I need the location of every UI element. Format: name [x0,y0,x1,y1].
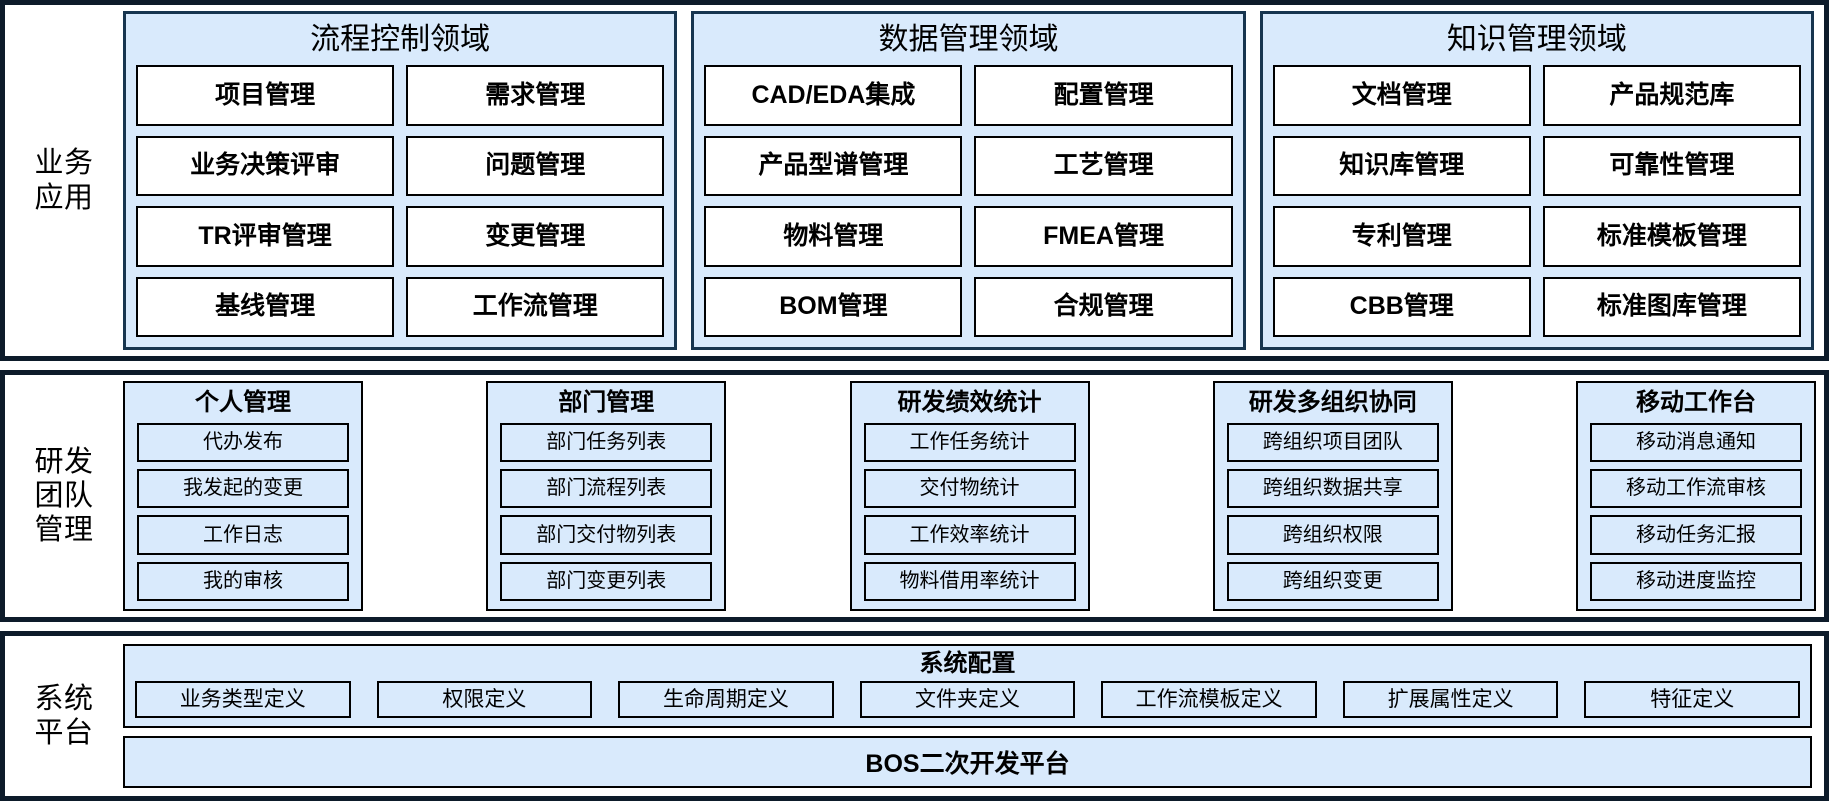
domain-grid-knowledge-management: 文档管理 产品规范库 知识库管理 可靠性管理 专利管理 标准模板管理 CBB管理… [1273,65,1801,337]
team-item[interactable]: 移动进度监控 [1590,562,1802,601]
app-cell[interactable]: TR评审管理 [136,206,394,267]
team-item[interactable]: 移动消息通知 [1590,423,1802,462]
sysconfig-item[interactable]: 业务类型定义 [135,681,351,718]
sysconfig-item[interactable]: 扩展属性定义 [1343,681,1559,718]
app-cell[interactable]: 标准图库管理 [1543,277,1801,338]
app-cell[interactable]: CAD/EDA集成 [704,65,962,126]
sysconfig-item[interactable]: 生命周期定义 [618,681,834,718]
app-cell[interactable]: 合规管理 [974,277,1232,338]
app-cell[interactable]: 文档管理 [1273,65,1531,126]
team-group-items: 移动消息通知 移动工作流审核 移动任务汇报 移动进度监控 [1590,423,1802,601]
team-group-multi-org-collaboration: 研发多组织协同 跨组织项目团队 跨组织数据共享 跨组织权限 跨组织变更 [1213,381,1453,611]
app-cell[interactable]: 产品规范库 [1543,65,1801,126]
team-item[interactable]: 部门变更列表 [500,562,712,601]
sysconfig-item[interactable]: 权限定义 [377,681,593,718]
band-label-rd-team-management: 研发 团队 管理 [5,375,123,617]
team-group-items: 跨组织项目团队 跨组织数据共享 跨组织权限 跨组织变更 [1227,423,1439,601]
app-cell[interactable]: CBB管理 [1273,277,1531,338]
system-configuration-items: 业务类型定义 权限定义 生命周期定义 文件夹定义 工作流模板定义 扩展属性定义 … [135,681,1800,718]
team-item[interactable]: 部门交付物列表 [500,515,712,554]
team-group-items: 部门任务列表 部门流程列表 部门交付物列表 部门变更列表 [500,423,712,601]
team-item[interactable]: 交付物统计 [864,469,1076,508]
team-group-title: 部门管理 [500,387,712,423]
app-cell[interactable]: 配置管理 [974,65,1232,126]
team-item[interactable]: 工作日志 [137,515,349,554]
team-group-rd-performance-statistics: 研发绩效统计 工作任务统计 交付物统计 工作效率统计 物料借用率统计 [850,381,1090,611]
app-cell[interactable]: 问题管理 [406,136,664,197]
domain-title-process-control: 流程控制领域 [136,18,664,65]
team-item[interactable]: 工作任务统计 [864,423,1076,462]
team-item[interactable]: 跨组织项目团队 [1227,423,1439,462]
team-item[interactable]: 跨组织数据共享 [1227,469,1439,508]
system-configuration-panel: 系统配置 业务类型定义 权限定义 生命周期定义 文件夹定义 工作流模板定义 扩展… [123,644,1812,728]
app-cell[interactable]: 基线管理 [136,277,394,338]
team-group-items: 工作任务统计 交付物统计 工作效率统计 物料借用率统计 [864,423,1076,601]
band-body-business-application: 流程控制领域 项目管理 需求管理 业务决策评审 问题管理 TR评审管理 变更管理… [123,5,1824,356]
team-item[interactable]: 部门任务列表 [500,423,712,462]
team-group-mobile-workbench: 移动工作台 移动消息通知 移动工作流审核 移动任务汇报 移动进度监控 [1576,381,1816,611]
app-cell[interactable]: 专利管理 [1273,206,1531,267]
team-item[interactable]: 部门流程列表 [500,469,712,508]
app-cell[interactable]: 需求管理 [406,65,664,126]
team-group-title: 移动工作台 [1590,387,1802,423]
domain-title-knowledge-management: 知识管理领域 [1273,18,1801,65]
app-cell[interactable]: 项目管理 [136,65,394,126]
sysconfig-item[interactable]: 特征定义 [1584,681,1800,718]
domain-grid-process-control: 项目管理 需求管理 业务决策评审 问题管理 TR评审管理 变更管理 基线管理 工… [136,65,664,337]
app-cell[interactable]: 可靠性管理 [1543,136,1801,197]
app-cell[interactable]: 物料管理 [704,206,962,267]
bos-development-platform-bar[interactable]: BOS二次开发平台 [123,736,1812,788]
team-item[interactable]: 我发起的变更 [137,469,349,508]
app-cell[interactable]: FMEA管理 [974,206,1232,267]
team-item[interactable]: 物料借用率统计 [864,562,1076,601]
team-item[interactable]: 移动工作流审核 [1590,469,1802,508]
domain-process-control: 流程控制领域 项目管理 需求管理 业务决策评审 问题管理 TR评审管理 变更管理… [123,11,677,350]
team-group-title: 研发绩效统计 [864,387,1076,423]
sysconfig-item[interactable]: 文件夹定义 [860,681,1076,718]
app-cell[interactable]: BOM管理 [704,277,962,338]
band-label-business-application: 业务 应用 [5,5,123,356]
app-cell[interactable]: 变更管理 [406,206,664,267]
team-item[interactable]: 跨组织变更 [1227,562,1439,601]
domain-data-management: 数据管理领域 CAD/EDA集成 配置管理 产品型谱管理 工艺管理 物料管理 F… [691,11,1245,350]
app-cell[interactable]: 标准模板管理 [1543,206,1801,267]
team-group-department-management: 部门管理 部门任务列表 部门流程列表 部门交付物列表 部门变更列表 [486,381,726,611]
team-group-personal-management: 个人管理 代办发布 我发起的变更 工作日志 我的审核 [123,381,363,611]
domain-knowledge-management: 知识管理领域 文档管理 产品规范库 知识库管理 可靠性管理 专利管理 标准模板管… [1260,11,1814,350]
app-cell[interactable]: 产品型谱管理 [704,136,962,197]
app-cell[interactable]: 工作流管理 [406,277,664,338]
sysconfig-item[interactable]: 工作流模板定义 [1101,681,1317,718]
team-group-title: 研发多组织协同 [1227,387,1439,423]
app-cell[interactable]: 知识库管理 [1273,136,1531,197]
band-body-system-platform: 系统配置 业务类型定义 权限定义 生命周期定义 文件夹定义 工作流模板定义 扩展… [123,636,1824,796]
app-cell[interactable]: 业务决策评审 [136,136,394,197]
system-configuration-title: 系统配置 [135,649,1800,681]
team-item[interactable]: 移动任务汇报 [1590,515,1802,554]
team-item[interactable]: 工作效率统计 [864,515,1076,554]
domain-grid-data-management: CAD/EDA集成 配置管理 产品型谱管理 工艺管理 物料管理 FMEA管理 B… [704,65,1232,337]
team-item[interactable]: 代办发布 [137,423,349,462]
team-item[interactable]: 我的审核 [137,562,349,601]
app-cell[interactable]: 工艺管理 [974,136,1232,197]
band-label-system-platform: 系统 平台 [5,636,123,796]
band-rd-team-management: 研发 团队 管理 个人管理 代办发布 我发起的变更 工作日志 我的审核 部门管理… [0,370,1829,622]
band-business-application: 业务 应用 流程控制领域 项目管理 需求管理 业务决策评审 问题管理 TR评审管… [0,0,1829,361]
team-item[interactable]: 跨组织权限 [1227,515,1439,554]
band-system-platform: 系统 平台 系统配置 业务类型定义 权限定义 生命周期定义 文件夹定义 工作流模… [0,631,1829,801]
team-group-items: 代办发布 我发起的变更 工作日志 我的审核 [137,423,349,601]
band-body-rd-team-management: 个人管理 代办发布 我发起的变更 工作日志 我的审核 部门管理 部门任务列表 部… [123,375,1824,617]
domain-title-data-management: 数据管理领域 [704,18,1232,65]
architecture-diagram: 业务 应用 流程控制领域 项目管理 需求管理 业务决策评审 问题管理 TR评审管… [0,0,1829,811]
team-group-title: 个人管理 [137,387,349,423]
